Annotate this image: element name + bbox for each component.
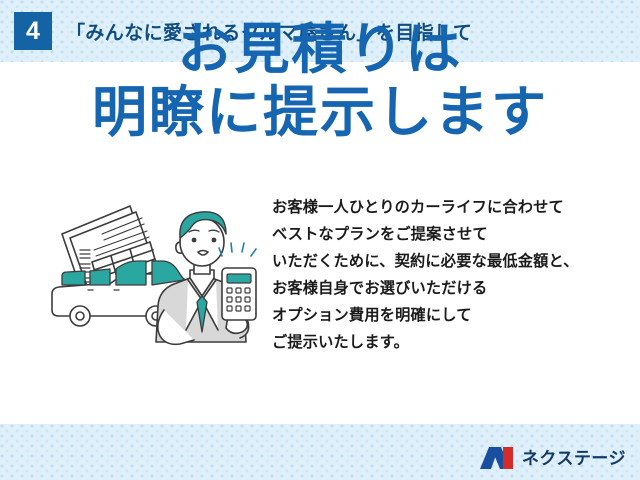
headline-line-1: お見積りは xyxy=(0,20,640,79)
brand-logo: ネクステージ xyxy=(479,443,626,473)
body-copy-line: いただくために、契約に必要な最低金額と、 xyxy=(272,248,632,275)
calculator-icon xyxy=(222,268,256,320)
body-copy-line: ベストなプランをご提案させて xyxy=(272,221,632,248)
brand-name: ネクステージ xyxy=(522,450,626,467)
nextage-n-logo-icon xyxy=(479,446,515,470)
headline-line-2: 明瞭に提示します xyxy=(0,83,640,142)
body-copy-line: お客様一人ひとりのカーライフに合わせて xyxy=(272,194,632,221)
illustration xyxy=(44,190,272,360)
body-copy-line: ご提示いたします。 xyxy=(272,329,632,356)
body-copy-line: オプション費用を明確にして xyxy=(272,302,632,329)
body-copy: お客様一人ひとりのカーライフに合わせて ベストなプランをご提案させて いただくた… xyxy=(272,194,632,356)
headline: お見積りは 明瞭に提示します xyxy=(0,20,640,143)
body-copy-line: お客様自身でお選びいただける xyxy=(272,275,632,302)
promo-slide: 4 「みんなに愛されるクルマ屋さん」を目指して お見積りは 明瞭に提示します お… xyxy=(0,0,640,480)
